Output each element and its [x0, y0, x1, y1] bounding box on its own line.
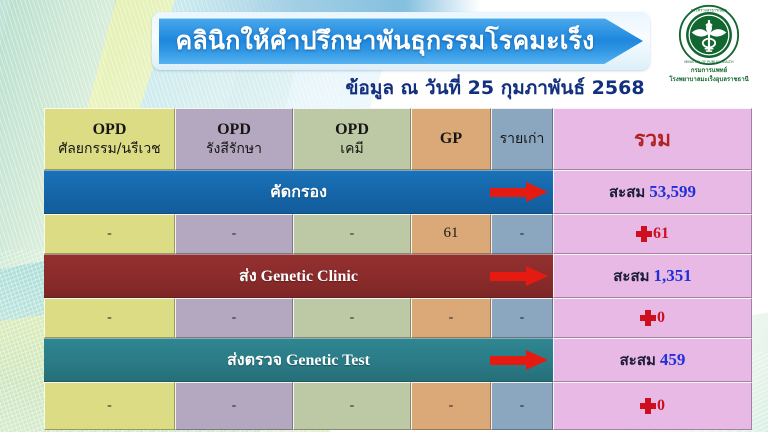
- table-cell: -: [44, 382, 175, 430]
- summary-table: OPD ศัลยกรรม/นรีเวช OPD รังสีรักษา OPD เ…: [44, 108, 752, 432]
- table-cell: -: [44, 298, 175, 338]
- cell-value: -: [520, 226, 525, 242]
- table-cell: -: [411, 382, 491, 430]
- cell-value: -: [449, 310, 454, 326]
- ministry-seal-icon: กระทรวงสาธารณสุข MINISTRY OF PUBLIC HEAL…: [678, 4, 740, 66]
- table-cell: -: [44, 214, 175, 254]
- cell-value: -: [350, 226, 355, 242]
- title-banner: คลินิกให้คำปรึกษาพันธุกรรมโรคมะเร็ง: [152, 12, 650, 70]
- cell-value: -: [232, 226, 237, 242]
- column-header-gp: GP: [411, 108, 491, 170]
- cell-value: -: [520, 398, 525, 414]
- accumulated-genetic-test: สะสม459: [620, 348, 686, 372]
- column-header-th: ศัลยกรรม/นรีเวช: [58, 141, 160, 157]
- band-row-genetic-clinic: ส่ง Genetic Clinic: [44, 254, 553, 298]
- column-header-th: รายเก่า: [500, 131, 545, 147]
- cell-value: -: [449, 398, 454, 414]
- accumulated-value: 53,599: [649, 182, 696, 201]
- svg-text:MINISTRY OF PUBLIC HEALTH: MINISTRY OF PUBLIC HEALTH: [684, 60, 734, 64]
- band-row-screening: คัดกรอง: [44, 170, 553, 214]
- cell-value: -: [232, 310, 237, 326]
- column-header-en: GP: [440, 130, 462, 148]
- cell-value: -: [520, 310, 525, 326]
- cell-value: -: [350, 310, 355, 326]
- delta-group: 0: [640, 309, 665, 327]
- table-cell: -: [491, 382, 553, 430]
- delta-group: 0: [640, 397, 665, 415]
- column-header-total-label: รวม: [634, 127, 671, 151]
- table-cell: 61: [411, 214, 491, 254]
- accumulated-value: 1,351: [654, 266, 692, 285]
- cell-value: -: [107, 398, 112, 414]
- delta-value: 61: [653, 225, 669, 243]
- column-header-opd-surgery: OPD ศัลยกรรม/นรีเวช: [44, 108, 175, 170]
- band-row-label: ส่งตรวจ Genetic Test: [227, 348, 370, 373]
- column-header-existing-cases: รายเก่า: [491, 108, 553, 170]
- cell-value: -: [232, 398, 237, 414]
- plus-cross-icon: [640, 310, 656, 326]
- accumulated-value: 459: [660, 350, 686, 369]
- total-cell-genetic-clinic: สะสม1,351: [553, 254, 752, 298]
- arrow-icon-genetic-clinic: [490, 266, 552, 286]
- arrow-icon-screening: [490, 182, 552, 202]
- column-header-opd-chemo: OPD เคมี: [293, 108, 411, 170]
- table-cell: -: [293, 298, 411, 338]
- total-cell-delta-genetic-clinic: 0: [553, 298, 752, 338]
- table-cell: -: [175, 382, 293, 430]
- slide-canvas: คลินิกให้คำปรึกษาพันธุกรรมโรคมะเร็ง กระท…: [0, 0, 768, 432]
- logo-caption-line1: กรมการแพทย์: [654, 67, 764, 75]
- cell-value: -: [107, 310, 112, 326]
- cell-value: 61: [444, 225, 459, 242]
- band-row-label: ส่ง Genetic Clinic: [239, 264, 358, 289]
- table-cell: -: [175, 298, 293, 338]
- data-as-of-date: ข้อมูล ณ วันที่ 25 กุมภาพันธ์ 2568: [330, 74, 660, 102]
- table-cell: -: [293, 382, 411, 430]
- arrow-icon-genetic-test: [490, 350, 552, 370]
- column-header-th: เคมี: [340, 141, 363, 157]
- table-cell: -: [491, 298, 553, 338]
- delta-value: 0: [657, 397, 665, 415]
- plus-cross-icon: [640, 398, 656, 414]
- column-header-en: OPD: [217, 121, 251, 139]
- organization-logo: กระทรวงสาธารณสุข MINISTRY OF PUBLIC HEAL…: [654, 4, 764, 90]
- total-cell-screening: สะสม53,599: [553, 170, 752, 214]
- accumulated-genetic-clinic: สะสม1,351: [613, 264, 692, 288]
- band-row-genetic-test: ส่งตรวจ Genetic Test: [44, 338, 553, 382]
- accumulated-screening: สะสม53,599: [609, 180, 696, 204]
- column-header-opd-radiation: OPD รังสีรักษา: [175, 108, 293, 170]
- table-cell: -: [293, 214, 411, 254]
- column-header-th: รังสีรักษา: [206, 141, 262, 157]
- delta-group: 61: [636, 225, 669, 243]
- delta-value: 0: [657, 309, 665, 327]
- cell-value: -: [107, 226, 112, 242]
- cell-value: -: [350, 398, 355, 414]
- total-cell-delta-genetic-test: 0: [553, 382, 752, 430]
- column-header-total: รวม: [553, 108, 752, 170]
- column-header-en: OPD: [93, 121, 127, 139]
- column-header-en: OPD: [335, 121, 369, 139]
- page-title: คลินิกให้คำปรึกษาพันธุกรรมโรคมะเร็ง: [159, 18, 611, 64]
- total-cell-delta-screening: 61: [553, 214, 752, 254]
- band-row-label: คัดกรอง: [270, 180, 327, 205]
- table-cell: -: [491, 214, 553, 254]
- plus-cross-icon: [636, 226, 652, 242]
- table-cell: -: [175, 214, 293, 254]
- logo-caption-line2: โรงพยาบาลมะเร็งอุบลราชธานี: [654, 76, 764, 84]
- total-cell-genetic-test: สะสม459: [553, 338, 752, 382]
- table-cell: -: [411, 298, 491, 338]
